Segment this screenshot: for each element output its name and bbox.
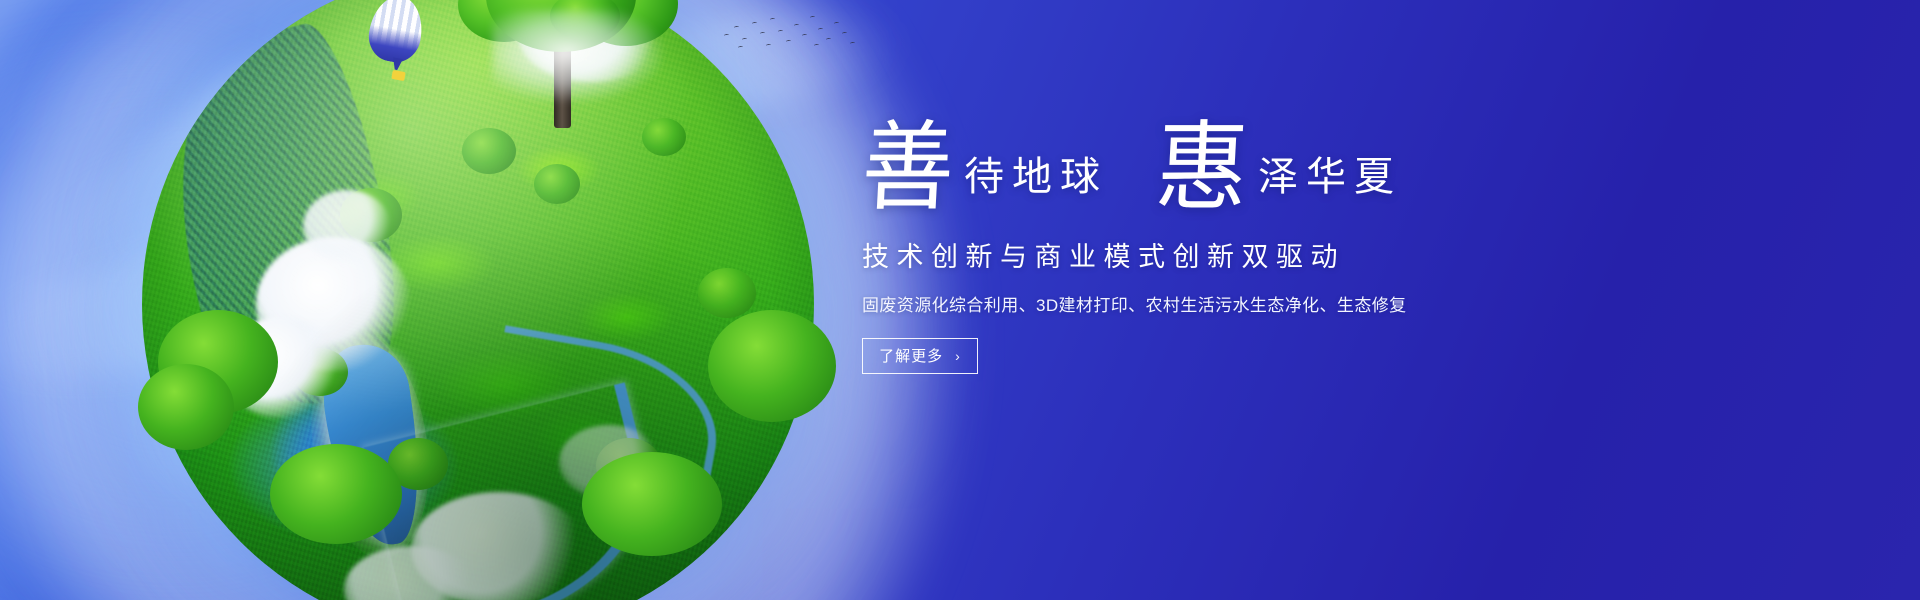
rim-tree bbox=[132, 360, 242, 470]
headline-segment-2: 惠 泽华夏 bbox=[1156, 128, 1402, 209]
bird-flock-icon bbox=[722, 12, 862, 58]
chevron-right-icon: › bbox=[955, 349, 961, 363]
banner-subtitle: 技术创新与商业模式创新双驱动 bbox=[862, 235, 1682, 274]
headline-small-text: 泽华夏 bbox=[1250, 157, 1402, 209]
rim-tree bbox=[698, 304, 848, 444]
hot-air-balloon-icon bbox=[370, 0, 426, 88]
headline-segment-1: 善 待地球 bbox=[862, 128, 1108, 209]
page-title: 善 待地球 惠 泽华夏 bbox=[862, 128, 1682, 209]
headline-big-char: 善 bbox=[860, 126, 959, 212]
planet-illustration bbox=[142, 0, 814, 600]
large-tree-icon bbox=[442, 0, 682, 124]
learn-more-button[interactable]: 了解更多 › bbox=[862, 338, 978, 374]
headline-big-char: 惠 bbox=[1154, 126, 1253, 212]
rim-tree bbox=[572, 446, 732, 566]
balloon-basket bbox=[391, 70, 405, 81]
headline-small-text: 待地球 bbox=[956, 157, 1108, 209]
banner-copy: 善 待地球 惠 泽华夏 技术创新与商业模式创新双驱动 固废资源化综合利用、3D建… bbox=[862, 128, 1682, 374]
balloon-envelope bbox=[365, 0, 428, 66]
mist-overlay bbox=[492, 10, 662, 102]
learn-more-label: 了解更多 bbox=[879, 345, 943, 366]
hero-banner: 善 待地球 惠 泽华夏 技术创新与商业模式创新双驱动 固废资源化综合利用、3D建… bbox=[0, 0, 1920, 600]
banner-description: 固废资源化综合利用、3D建材打印、农村生活污水生态净化、生态修复 bbox=[862, 291, 1682, 316]
rim-tree bbox=[262, 438, 412, 558]
